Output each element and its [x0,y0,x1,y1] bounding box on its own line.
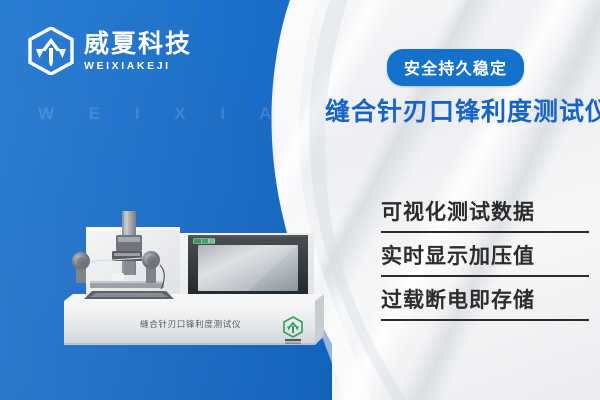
hexagon-arrow-logo-icon [28,27,74,75]
product-image: 缝合针刃口锋利度测试仪 [62,205,352,365]
feature-divider [381,319,589,321]
svg-text:缝合针刃口锋利度测试仪: 缝合针刃口锋利度测试仪 [140,318,241,330]
feature-label: 过载断电即存储 [381,287,589,313]
list-item: 可视化测试数据 [381,199,589,233]
brand-text: 威夏科技 WEIXIAKEJI [84,31,192,72]
feature-label: 可视化测试数据 [381,199,589,225]
list-item: 过载断电即存储 [381,287,589,321]
feature-divider [381,231,589,233]
brand-name-cn: 威夏科技 [84,31,192,56]
promo-banner: W E I X I A K E 威夏科技 WEIXIAKEJI 安全持久稳定 缝… [0,0,600,400]
page-title: 缝合针刃口锋利度测试仪 [325,92,600,128]
feature-label: 实时显示加压值 [381,243,589,269]
list-item: 实时显示加压值 [381,243,589,277]
brand-name-en: WEIXIAKEJI [84,61,192,72]
feature-list: 可视化测试数据 实时显示加压值 过载断电即存储 [381,199,589,331]
brand-logo: 威夏科技 WEIXIAKEJI [28,27,192,75]
status-badge: 安全持久稳定 [387,49,524,86]
feature-divider [381,275,589,277]
